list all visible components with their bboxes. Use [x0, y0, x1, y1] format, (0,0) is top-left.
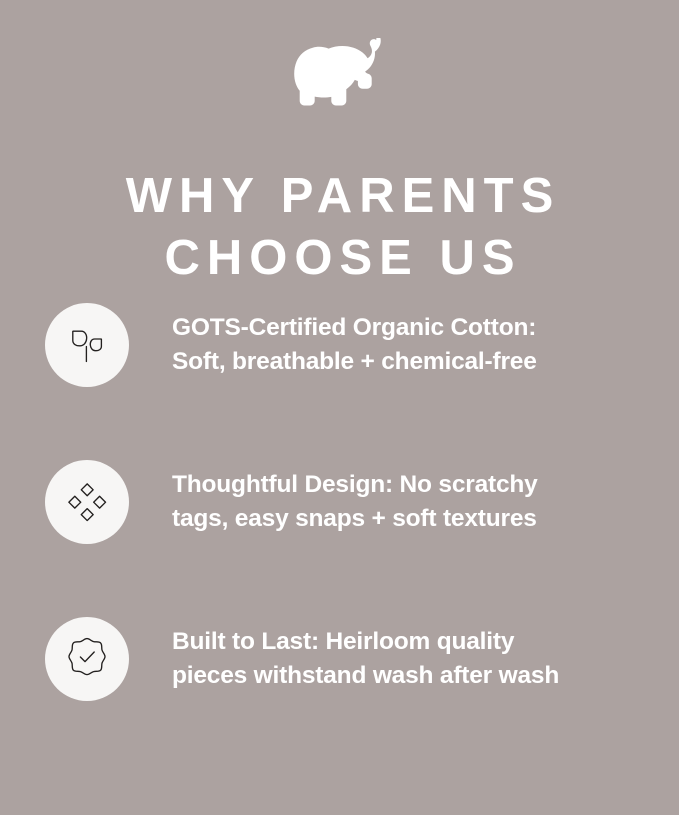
four-diamonds-icon — [65, 480, 109, 524]
elephant-icon — [294, 38, 386, 106]
feature-icon-badge — [45, 303, 129, 387]
feature-icon-badge — [45, 460, 129, 544]
page-title: WHY PARENTS CHOOSE US — [0, 165, 679, 289]
feature-text-line-2: Soft, breathable + chemical-free — [172, 345, 632, 379]
feature-text-line-2: pieces withstand wash after wash — [172, 659, 632, 693]
feature-text: GOTS-Certified Organic Cotton: Soft, bre… — [172, 311, 632, 379]
why-parents-choose-us-panel: WHY PARENTS CHOOSE US GOTS-Certifie — [0, 0, 679, 815]
list-item: Built to Last: Heirloom quality pieces w… — [0, 617, 679, 701]
page-title-line-2: CHOOSE US — [0, 227, 679, 289]
feature-text: Thoughtful Design: No scratchy tags, eas… — [172, 468, 632, 536]
feature-text-line-1: Built to Last: Heirloom quality — [172, 625, 632, 659]
feature-list: GOTS-Certified Organic Cotton: Soft, bre… — [0, 303, 679, 701]
scalloped-badge-check-icon — [63, 635, 111, 683]
feature-text: Built to Last: Heirloom quality pieces w… — [172, 625, 632, 693]
feature-text-line-1: Thoughtful Design: No scratchy — [172, 468, 632, 502]
feature-text-line-2: tags, easy snaps + soft textures — [172, 502, 632, 536]
list-item: Thoughtful Design: No scratchy tags, eas… — [0, 460, 679, 544]
sprout-icon — [65, 323, 109, 367]
list-item: GOTS-Certified Organic Cotton: Soft, bre… — [0, 303, 679, 387]
page-title-line-1: WHY PARENTS — [0, 165, 679, 227]
feature-icon-badge — [45, 617, 129, 701]
feature-text-line-1: GOTS-Certified Organic Cotton: — [172, 311, 632, 345]
brand-logo — [0, 36, 679, 108]
